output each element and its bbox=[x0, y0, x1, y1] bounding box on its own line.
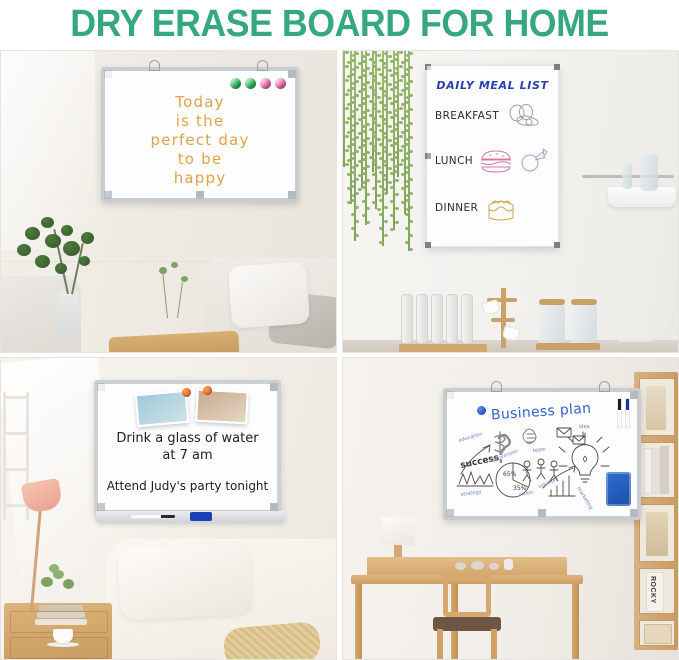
jar-lid bbox=[539, 299, 565, 305]
vine-leaf bbox=[362, 74, 366, 77]
vine-leaf bbox=[388, 97, 392, 100]
book bbox=[652, 448, 660, 494]
meal-row-dinner: DINNER bbox=[435, 194, 518, 222]
svg-text:idea: idea bbox=[579, 424, 590, 430]
vine-leaf bbox=[351, 101, 355, 104]
cake-doodle bbox=[484, 194, 518, 222]
vine-leaf bbox=[384, 234, 388, 237]
whiteboard-business-plan[interactable]: Business plan education success strategy bbox=[443, 388, 641, 520]
vine-leaf bbox=[401, 131, 405, 134]
vine-leaf bbox=[362, 116, 366, 119]
vine-leaf bbox=[355, 220, 359, 223]
hanging-vine-plant bbox=[343, 51, 415, 274]
glass-vase bbox=[57, 292, 79, 340]
vine-leaf bbox=[366, 137, 370, 140]
vine-leaf bbox=[405, 59, 409, 62]
coffee-cup bbox=[53, 629, 73, 643]
meal-list-title: DAILY MEAL LIST bbox=[427, 79, 558, 92]
vine-leaf bbox=[394, 72, 398, 75]
vine-leaf bbox=[401, 201, 405, 204]
vine-leaf bbox=[395, 221, 399, 224]
vine-leaf bbox=[405, 241, 409, 244]
desk-lamp-shade bbox=[381, 517, 415, 545]
vine-leaf bbox=[351, 59, 355, 62]
book bbox=[660, 446, 669, 494]
product-image: DRY ERASE BOARD FOR HOME bbox=[0, 0, 679, 660]
scene-home-office: ROCKY bbox=[342, 357, 679, 660]
frame-corner bbox=[270, 503, 278, 511]
vine-leaf bbox=[345, 65, 349, 68]
vine-leaf bbox=[401, 145, 405, 148]
meal-label: DINNER bbox=[435, 202, 478, 214]
vine-leaf bbox=[405, 185, 409, 188]
vine-leaf bbox=[394, 142, 398, 145]
vine-leaf bbox=[355, 94, 359, 97]
vine-leaf bbox=[355, 234, 359, 237]
book-stack bbox=[35, 603, 87, 625]
vine-leaf bbox=[409, 66, 413, 69]
vine-leaf bbox=[409, 248, 413, 251]
board-note-text: Today is the perfect day to be happy bbox=[105, 93, 295, 188]
vine-leaf bbox=[394, 128, 398, 131]
vine-leaf bbox=[347, 117, 351, 120]
vine-leaf bbox=[394, 114, 398, 117]
vine-leaf bbox=[409, 108, 413, 111]
vine-leaf bbox=[351, 73, 355, 76]
vine-leaf bbox=[405, 143, 409, 146]
vine-leaf bbox=[355, 108, 359, 111]
vine-leaf bbox=[377, 96, 381, 99]
vine-leaf bbox=[358, 76, 362, 79]
vine-leaf bbox=[351, 129, 355, 132]
vine-leaf bbox=[401, 75, 405, 78]
vine-leaf bbox=[377, 166, 381, 169]
vine-strand bbox=[386, 51, 388, 193]
note-line: at 7 am bbox=[98, 447, 277, 464]
dried-flowers bbox=[646, 512, 668, 556]
magnet-row[interactable] bbox=[230, 78, 286, 89]
vine-leaf bbox=[345, 79, 349, 82]
vine-leaf bbox=[351, 171, 355, 174]
vine-leaf bbox=[366, 53, 370, 56]
vine-leaf bbox=[345, 135, 349, 138]
vine-leaf bbox=[358, 132, 362, 135]
frame-corner bbox=[446, 391, 454, 399]
vine-leaf bbox=[345, 149, 349, 152]
note-line: to be bbox=[105, 150, 295, 169]
eggs-doodle bbox=[505, 104, 545, 128]
glass-jar bbox=[571, 304, 597, 344]
vine-leaf bbox=[362, 200, 366, 203]
vine-leaf bbox=[366, 151, 370, 154]
svg-text:solution: solution bbox=[538, 477, 559, 490]
magnet-pink-2[interactable] bbox=[275, 78, 286, 89]
vine-leaf bbox=[401, 159, 405, 162]
svg-text:team: team bbox=[533, 447, 547, 454]
burger-doodle bbox=[479, 148, 513, 174]
vine-leaf bbox=[409, 150, 413, 153]
vine-leaf bbox=[355, 178, 359, 181]
vine-leaf bbox=[394, 156, 398, 159]
vine-leaf bbox=[405, 213, 409, 216]
vine-leaf bbox=[399, 79, 403, 82]
frame-corner bbox=[630, 391, 638, 399]
vine-leaf bbox=[377, 194, 381, 197]
vine-leaf bbox=[358, 90, 362, 93]
wall-shelf bbox=[578, 161, 674, 207]
vine-leaf bbox=[366, 67, 370, 70]
vine-leaf bbox=[388, 69, 392, 72]
vine-leaf bbox=[394, 170, 398, 173]
vine-leaf bbox=[405, 199, 409, 202]
glass-jar bbox=[539, 304, 565, 344]
vine-leaf bbox=[358, 174, 362, 177]
jar-lid bbox=[571, 299, 597, 305]
vine-leaf bbox=[366, 207, 370, 210]
magnet-green-2[interactable] bbox=[245, 78, 256, 89]
corner-clip bbox=[425, 242, 431, 248]
vine-leaf bbox=[358, 188, 362, 191]
vine-leaf bbox=[401, 117, 405, 120]
vine-leaf bbox=[366, 179, 370, 182]
note-line: Today bbox=[105, 93, 295, 112]
vine-leaf bbox=[351, 199, 355, 202]
magnet-blue[interactable] bbox=[477, 406, 486, 415]
vine-leaf bbox=[351, 157, 355, 160]
jar-stand bbox=[536, 343, 600, 350]
vine-strand bbox=[393, 51, 395, 230]
frame-corner bbox=[270, 383, 278, 391]
vine-leaf bbox=[384, 220, 388, 223]
magnet-pink-1[interactable] bbox=[260, 78, 271, 89]
vine-leaf bbox=[345, 163, 349, 166]
chair-back bbox=[443, 573, 491, 617]
vine-leaf bbox=[347, 103, 351, 106]
whiteboard-with-tray[interactable]: Drink a glass of water at 7 am Attend Ju… bbox=[94, 380, 281, 514]
vine-leaf bbox=[399, 93, 403, 96]
glass-bottle-small bbox=[622, 163, 632, 189]
vine-leaf bbox=[409, 164, 413, 167]
vine-leaf bbox=[362, 130, 366, 133]
vine-leaf bbox=[409, 94, 413, 97]
business-plan-doodles: education success strategy 65% 35% conve… bbox=[453, 422, 621, 514]
vine-leaf bbox=[366, 123, 370, 126]
vine-leaf bbox=[377, 180, 381, 183]
vine-leaf bbox=[394, 58, 398, 61]
vine-leaf bbox=[351, 227, 355, 230]
svg-text:strategy: strategy bbox=[460, 489, 482, 498]
glass-bottle-large bbox=[640, 155, 658, 191]
frame-corner bbox=[630, 509, 638, 517]
vine-leaf bbox=[399, 107, 403, 110]
vine-leaf bbox=[409, 122, 413, 125]
vine-leaf bbox=[405, 115, 409, 118]
vine-leaf bbox=[362, 102, 366, 105]
vine-leaf bbox=[366, 109, 370, 112]
vine-leaf bbox=[409, 52, 413, 55]
vine-leaf bbox=[409, 136, 413, 139]
vine-leaf bbox=[399, 163, 403, 166]
vine-leaf bbox=[390, 228, 394, 231]
meal-row-lunch: LUNCH bbox=[435, 148, 549, 174]
vine-leaf bbox=[388, 55, 392, 58]
meal-row-breakfast: BREAKFAST bbox=[435, 104, 545, 128]
desk-lamp bbox=[381, 517, 415, 559]
potted-plant bbox=[37, 559, 77, 603]
corner-clip bbox=[554, 64, 560, 70]
scene-grid: Today is the perfect day to be happy bbox=[0, 50, 679, 660]
frame-corner bbox=[97, 503, 105, 511]
frame-corner bbox=[196, 191, 204, 199]
vine-leaf bbox=[362, 60, 366, 63]
vine-leaf bbox=[366, 193, 370, 196]
vine-leaf bbox=[377, 152, 381, 155]
vine-leaf bbox=[401, 61, 405, 64]
vine-leaf bbox=[355, 122, 359, 125]
magnet-orange-left[interactable] bbox=[182, 388, 191, 397]
vine-leaf bbox=[401, 103, 405, 106]
frame-corner bbox=[104, 70, 112, 78]
whiteboard-portrait[interactable]: DAILY MEAL LIST BREAKFAST LUNCH bbox=[426, 65, 559, 247]
svg-text:marketing: marketing bbox=[575, 486, 594, 511]
vine-leaf bbox=[405, 171, 409, 174]
frame-corner bbox=[288, 70, 296, 78]
marker-holder[interactable] bbox=[617, 398, 630, 428]
vine-leaf bbox=[362, 214, 366, 217]
plate bbox=[446, 294, 458, 344]
vine-leaf bbox=[366, 95, 370, 98]
vine-leaf bbox=[388, 181, 392, 184]
dish-rack bbox=[399, 290, 487, 353]
vine-leaf bbox=[409, 220, 413, 223]
vine-strand bbox=[372, 51, 374, 172]
magnet-green-1[interactable] bbox=[230, 78, 241, 89]
plate bbox=[416, 294, 428, 344]
board-title-text: Business plan bbox=[491, 401, 592, 424]
mug-tree bbox=[483, 282, 523, 348]
vine-leaf bbox=[409, 178, 413, 181]
vine-leaf bbox=[345, 121, 349, 124]
vine-leaf bbox=[399, 65, 403, 68]
vine-leaf bbox=[351, 213, 355, 216]
vine-leaf bbox=[345, 51, 349, 54]
vine-leaf bbox=[362, 186, 366, 189]
svg-text:65%: 65% bbox=[503, 471, 517, 478]
scene-kitchen: DAILY MEAL LIST BREAKFAST LUNCH bbox=[342, 50, 679, 353]
vine-leaf bbox=[388, 153, 392, 156]
corner-clip bbox=[554, 242, 560, 248]
blue-eraser[interactable] bbox=[190, 512, 212, 521]
magnetic-eraser[interactable] bbox=[606, 472, 631, 506]
marker-cap bbox=[161, 515, 175, 518]
vine-leaf bbox=[351, 87, 355, 90]
dry-erase-marker[interactable] bbox=[130, 514, 176, 519]
throw-pillow-white bbox=[228, 261, 310, 328]
vine-leaf bbox=[405, 227, 409, 230]
vine-leaf bbox=[355, 136, 359, 139]
vine-leaf bbox=[345, 107, 349, 110]
plate bbox=[401, 294, 413, 344]
vine-leaf bbox=[377, 110, 381, 113]
pen-tray[interactable] bbox=[96, 511, 285, 523]
vine-leaf bbox=[399, 149, 403, 152]
svg-text:vision: vision bbox=[518, 490, 533, 498]
vine-leaf bbox=[377, 82, 381, 85]
vine-leaf bbox=[362, 88, 366, 91]
book bbox=[644, 448, 652, 494]
vine-leaf bbox=[377, 54, 381, 57]
vine-leaf bbox=[377, 208, 381, 211]
vine-leaf bbox=[366, 165, 370, 168]
board-note-primary: Drink a glass of water at 7 am bbox=[98, 430, 277, 464]
vine-leaf bbox=[347, 75, 351, 78]
chicken-drumstick-doodle bbox=[519, 148, 549, 174]
vine-leaf bbox=[405, 129, 409, 132]
page-title: DRY ERASE BOARD FOR HOME bbox=[20, 0, 658, 48]
vine-leaf bbox=[377, 124, 381, 127]
vine-leaf bbox=[401, 187, 405, 190]
desk-chair bbox=[429, 573, 505, 660]
magnet-orange-right[interactable] bbox=[203, 386, 212, 395]
vine-leaf bbox=[394, 86, 398, 89]
vine-leaf bbox=[366, 221, 370, 224]
note-line: Drink a glass of water bbox=[98, 430, 277, 447]
corner-clip bbox=[425, 153, 431, 159]
hanging-hook-icon bbox=[491, 381, 502, 392]
vine-leaf bbox=[355, 52, 359, 55]
vine-leaf bbox=[377, 68, 381, 71]
vine-leaf bbox=[395, 179, 399, 182]
frame-corner bbox=[288, 191, 296, 199]
photo-left[interactable] bbox=[135, 390, 190, 427]
rack-base bbox=[399, 344, 487, 353]
vine-leaf bbox=[358, 62, 362, 65]
plant-pot bbox=[47, 589, 67, 603]
vine-leaf bbox=[347, 145, 351, 148]
note-line: happy bbox=[105, 169, 295, 188]
box bbox=[644, 624, 672, 644]
scene-bedroom: Drink a glass of water at 7 am Attend Ju… bbox=[0, 357, 337, 660]
board-note-secondary: Attend Judy's party tonight bbox=[98, 479, 277, 493]
vine-leaf bbox=[366, 81, 370, 84]
vine-leaf bbox=[409, 80, 413, 83]
frame-corner bbox=[97, 383, 105, 391]
vine-leaf bbox=[351, 185, 355, 188]
vine-leaf bbox=[347, 89, 351, 92]
vine-leaf bbox=[355, 192, 359, 195]
vine-leaf bbox=[409, 234, 413, 237]
vine-leaf bbox=[347, 131, 351, 134]
vine-leaf bbox=[362, 172, 366, 175]
mug bbox=[482, 299, 501, 316]
vine-leaf bbox=[405, 73, 409, 76]
vine-leaf bbox=[347, 187, 351, 190]
mug-tree-arm bbox=[491, 318, 515, 322]
svg-text:education: education bbox=[458, 431, 484, 444]
bed-pillow bbox=[117, 542, 253, 621]
hanging-hook-icon bbox=[149, 60, 160, 71]
vine-leaf bbox=[355, 150, 359, 153]
vine-leaf bbox=[355, 66, 359, 69]
coffee-table bbox=[108, 331, 239, 353]
vine-leaf bbox=[409, 192, 413, 195]
vine-leaf bbox=[377, 138, 381, 141]
vine-leaf bbox=[362, 158, 366, 161]
vine-leaf bbox=[401, 89, 405, 92]
vine-leaf bbox=[358, 160, 362, 163]
vine-leaf bbox=[362, 144, 366, 147]
corner-clip bbox=[425, 64, 431, 70]
note-line: is the bbox=[105, 112, 295, 131]
desk-lamp-base bbox=[394, 545, 402, 557]
vine-leaf bbox=[358, 104, 362, 107]
vine-leaf bbox=[399, 135, 403, 138]
vine-leaf bbox=[355, 80, 359, 83]
vine-leaf bbox=[395, 193, 399, 196]
marker-black[interactable] bbox=[617, 398, 622, 428]
dried-grass bbox=[646, 386, 666, 430]
marker-blue[interactable] bbox=[625, 398, 630, 428]
vine-leaf bbox=[358, 146, 362, 149]
storage-jars bbox=[539, 296, 603, 346]
vine-leaf bbox=[347, 159, 351, 162]
vine-leaf bbox=[405, 87, 409, 90]
vine-leaf bbox=[405, 157, 409, 160]
vine-leaf bbox=[388, 167, 392, 170]
vine-leaf bbox=[394, 100, 398, 103]
hanging-hook-icon bbox=[599, 381, 610, 392]
vine-leaf bbox=[345, 93, 349, 96]
vine-strand bbox=[375, 51, 377, 209]
vine-leaf bbox=[399, 51, 403, 54]
whiteboard-landscape[interactable]: Today is the perfect day to be happy bbox=[101, 67, 299, 202]
vine-leaf bbox=[355, 206, 359, 209]
vine-leaf bbox=[395, 207, 399, 210]
vine-leaf bbox=[347, 173, 351, 176]
decor-stones bbox=[455, 559, 513, 570]
power-cord bbox=[618, 314, 674, 342]
vine-leaf bbox=[358, 118, 362, 121]
vine-leaf bbox=[388, 83, 392, 86]
book-rocky-label: ROCKY bbox=[649, 576, 656, 604]
plate bbox=[461, 294, 473, 344]
meal-label: BREAKFAST bbox=[435, 110, 499, 122]
scene-living-room: Today is the perfect day to be happy bbox=[0, 50, 337, 353]
vine-leaf bbox=[401, 173, 405, 176]
plate bbox=[431, 294, 443, 344]
vine-leaf bbox=[347, 201, 351, 204]
note-line: perfect day bbox=[105, 131, 295, 150]
vine-leaf bbox=[384, 206, 388, 209]
vine-leaf bbox=[351, 115, 355, 118]
photo-right[interactable] bbox=[195, 389, 249, 425]
vine-leaf bbox=[351, 143, 355, 146]
vine-leaf bbox=[347, 61, 351, 64]
vine-leaf bbox=[399, 121, 403, 124]
vine-leaf bbox=[388, 111, 392, 114]
frame-corner bbox=[104, 191, 112, 199]
hanging-hook-icon bbox=[257, 60, 268, 71]
vine-leaf bbox=[355, 164, 359, 167]
meal-label: LUNCH bbox=[435, 155, 473, 167]
vine-leaf bbox=[388, 139, 392, 142]
vine-leaf bbox=[388, 125, 392, 128]
vine-leaf bbox=[405, 101, 409, 104]
vine-leaf bbox=[409, 206, 413, 209]
